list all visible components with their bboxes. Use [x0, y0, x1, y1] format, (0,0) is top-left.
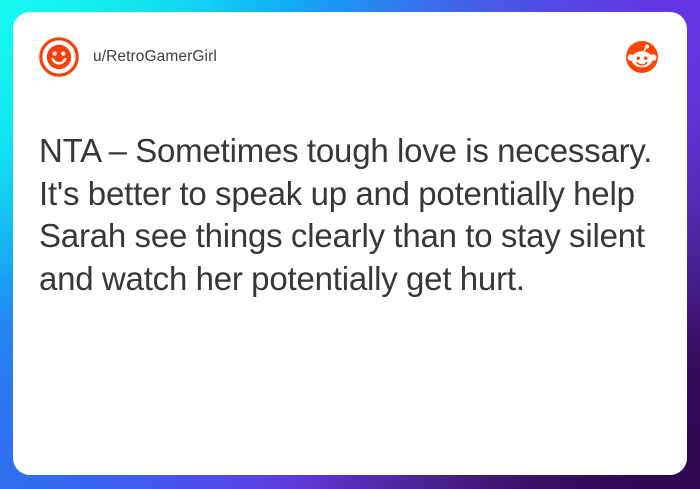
reddit-post-card: u/RetroGamerGirl NTA – Sometimes — [13, 12, 687, 475]
post-body: NTA – Sometimes tough love is necessary.… — [39, 80, 661, 449]
post-text: NTA – Sometimes tough love is necessary.… — [39, 130, 661, 300]
reddit-snoo-icon[interactable] — [625, 40, 659, 74]
gradient-background: u/RetroGamerGirl NTA – Sometimes — [0, 0, 700, 489]
username-label: u/RetroGamerGirl — [93, 48, 217, 66]
post-header: u/RetroGamerGirl — [39, 34, 661, 80]
smiley-face-avatar-icon — [39, 37, 79, 77]
avatar[interactable] — [39, 37, 79, 77]
